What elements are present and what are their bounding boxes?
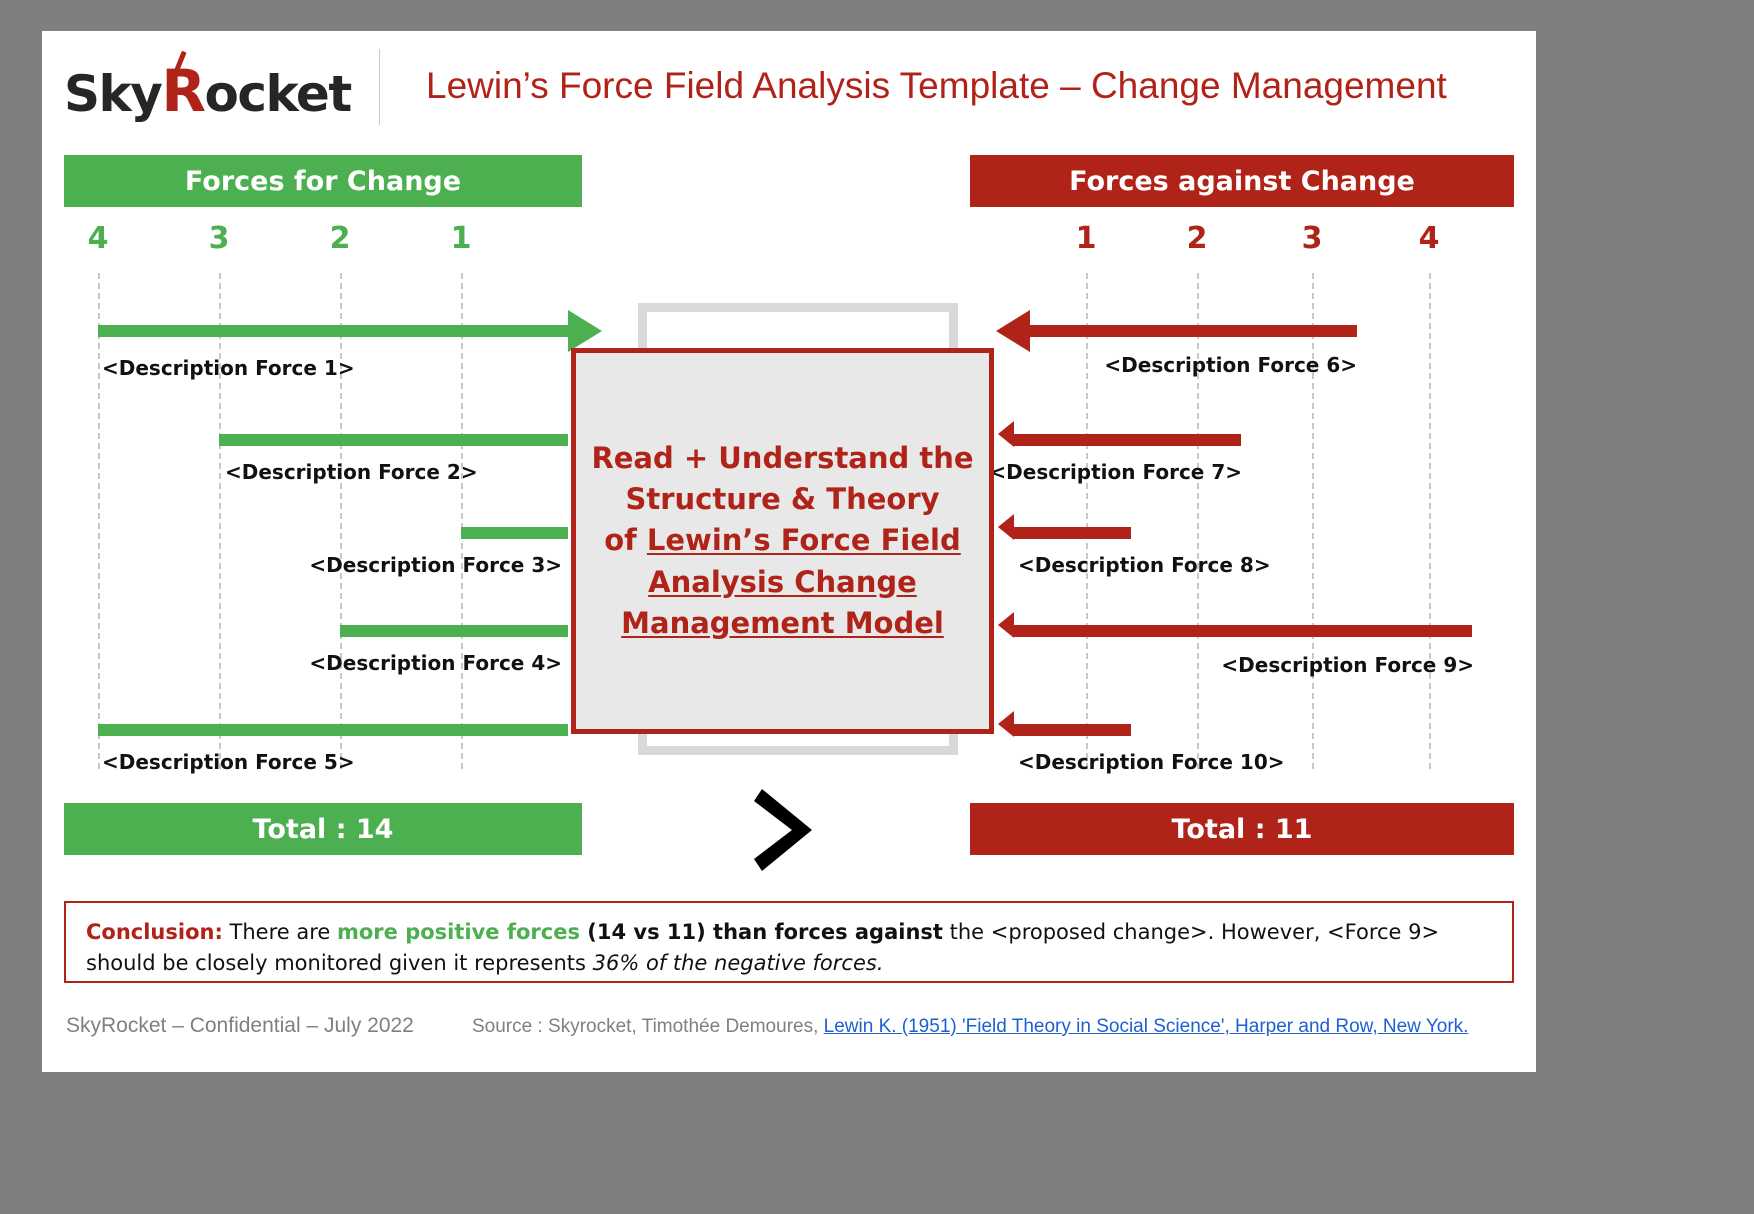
total-for-change: Total : 14 [64,803,582,855]
page-title: Lewin’s Force Field Analysis Template – … [426,65,1447,107]
tick-left-2: 2 [330,221,351,256]
tick-left-4: 4 [88,221,109,256]
forces-against-change-header: Forces against Change [970,155,1514,207]
forces-for-change-header: Forces for Change [64,155,582,207]
skyrocket-logo: SkyRocket [64,57,351,125]
force-bar-1[interactable] [98,325,568,337]
conclusion-text-3: the <proposed change>. However, <Force 9… [943,920,1439,944]
centre-line-2: Structure & Theory [625,482,939,516]
greater-than-chevron-icon [754,789,820,871]
force-label-4: <Description Force 4> [42,651,562,675]
gridline-right-1 [1086,273,1088,769]
footer-source-prefix: Source : Skyrocket, Timothée Demoures, [472,1016,824,1037]
tick-left-1: 1 [451,221,472,256]
conclusion-positive-highlight: more positive forces [337,920,580,944]
force-label-2: <Description Force 2> [225,460,478,484]
conclusion-text-1: There are [223,920,337,944]
force-bar-9[interactable] [1014,625,1472,637]
force-arrowhead-10 [998,711,1014,737]
forces-against-change-label: Forces against Change [1069,166,1415,197]
centre-link-line-1[interactable]: Lewin’s Force Field [647,523,961,557]
centre-line-1: Read + Understand the [591,441,973,475]
gridline-right-2 [1197,273,1199,769]
logo-letter-r: R [161,57,204,125]
slide-canvas: SkyRocket Lewin’s Force Field Analysis T… [42,31,1536,1072]
gridline-right-4 [1429,273,1431,769]
force-label-5: <Description Force 5> [102,750,355,774]
tick-right-4: 4 [1419,221,1440,256]
force-arrowhead-9 [998,612,1014,638]
force-label-10: <Description Force 10> [1018,750,1285,774]
gridline-left-1 [461,273,463,769]
slide-footer: SkyRocket – Confidential – July 2022 Sou… [42,1006,1536,1066]
tick-right-3: 3 [1302,221,1323,256]
centre-line-3-prefix: of [604,523,647,557]
force-arrowhead-6 [996,310,1030,352]
gridline-left-2 [340,273,342,769]
logo-text-ocket: ocket [205,65,351,123]
conclusion-text-2: (14 vs 11) than forces against [580,920,943,944]
forces-for-change-label: Forces for Change [185,166,461,197]
force-label-6: <Description Force 6> [982,353,1357,377]
force-bar-8[interactable] [1014,527,1131,539]
force-arrowhead-1 [568,310,602,352]
conclusion-text-4: should be closely monitored given it rep… [86,951,593,975]
force-arrowhead-8 [998,514,1014,540]
force-bar-2[interactable] [219,434,568,446]
conclusion-emphasis: 36% of the negative forces. [593,951,884,975]
total-against-change: Total : 11 [970,803,1514,855]
force-bar-4[interactable] [340,625,568,637]
force-bar-10[interactable] [1014,724,1131,736]
footer-source: Source : Skyrocket, Timothée Demoures, L… [472,1016,1468,1038]
footer-source-link[interactable]: Lewin K. (1951) 'Field Theory in Social … [824,1016,1469,1037]
force-label-1: <Description Force 1> [102,356,355,380]
force-label-9: <Description Force 9> [1042,653,1474,677]
conclusion-label: Conclusion: [86,920,223,944]
header-divider [379,49,380,125]
tick-right-1: 1 [1076,221,1097,256]
centre-callout-box[interactable]: Read + Understand the Structure & Theory… [571,348,994,734]
gridline-left-4 [98,273,100,769]
tick-left-3: 3 [209,221,230,256]
logo-text-sky: Sky [64,65,161,123]
footer-confidential-text: SkyRocket – Confidential – July 2022 [66,1014,414,1038]
centre-link-line-3[interactable]: Management Model [621,606,944,640]
total-against-change-label: Total : 11 [1172,814,1313,845]
conclusion-box: Conclusion: There are more positive forc… [64,901,1514,983]
centre-callout-text: Read + Understand the Structure & Theory… [577,438,987,644]
force-bar-6[interactable] [1030,325,1357,337]
total-for-change-label: Total : 14 [253,814,394,845]
force-arrowhead-7 [998,421,1014,447]
gridline-left-3 [219,273,221,769]
force-bar-5[interactable] [98,724,568,736]
force-bar-3[interactable] [461,527,568,539]
centre-link-line-2[interactable]: Analysis Change [648,565,917,599]
force-label-8: <Description Force 8> [1018,553,1271,577]
force-label-3: <Description Force 3> [42,553,562,577]
force-bar-7[interactable] [1014,434,1241,446]
tick-right-2: 2 [1187,221,1208,256]
slide-header: SkyRocket Lewin’s Force Field Analysis T… [42,31,1536,139]
gridline-right-3 [1312,273,1314,769]
